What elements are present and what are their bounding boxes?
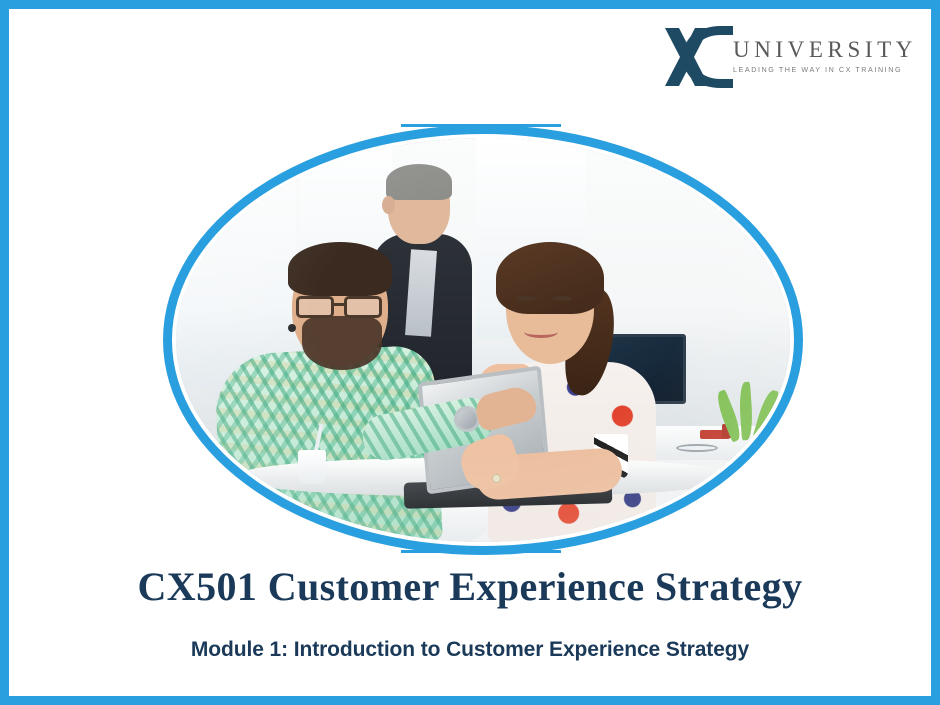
- slide-border-bottom: [0, 696, 940, 705]
- logo-wordmark: UNIVERSITY: [733, 38, 911, 61]
- hero-image-frame: [163, 112, 803, 564]
- slide-border-top: [0, 0, 940, 9]
- cx-monogram-icon: [663, 22, 737, 92]
- slide-canvas: UNIVERSITY LEADING THE WAY IN CX TRAININ…: [0, 0, 940, 705]
- page-title: CX501 Customer Experience Strategy: [0, 566, 940, 608]
- logo-text-block: UNIVERSITY LEADING THE WAY IN CX TRAININ…: [733, 38, 911, 73]
- logo-tagline-text: LEADING THE WAY IN CX TRAINING: [733, 66, 911, 73]
- decorative-line-bottom: [401, 550, 561, 553]
- page-subtitle: Module 1: Introduction to Customer Exper…: [0, 637, 940, 662]
- cx-university-logo: UNIVERSITY LEADING THE WAY IN CX TRAININ…: [663, 22, 908, 94]
- hero-oval-ring: [163, 125, 803, 555]
